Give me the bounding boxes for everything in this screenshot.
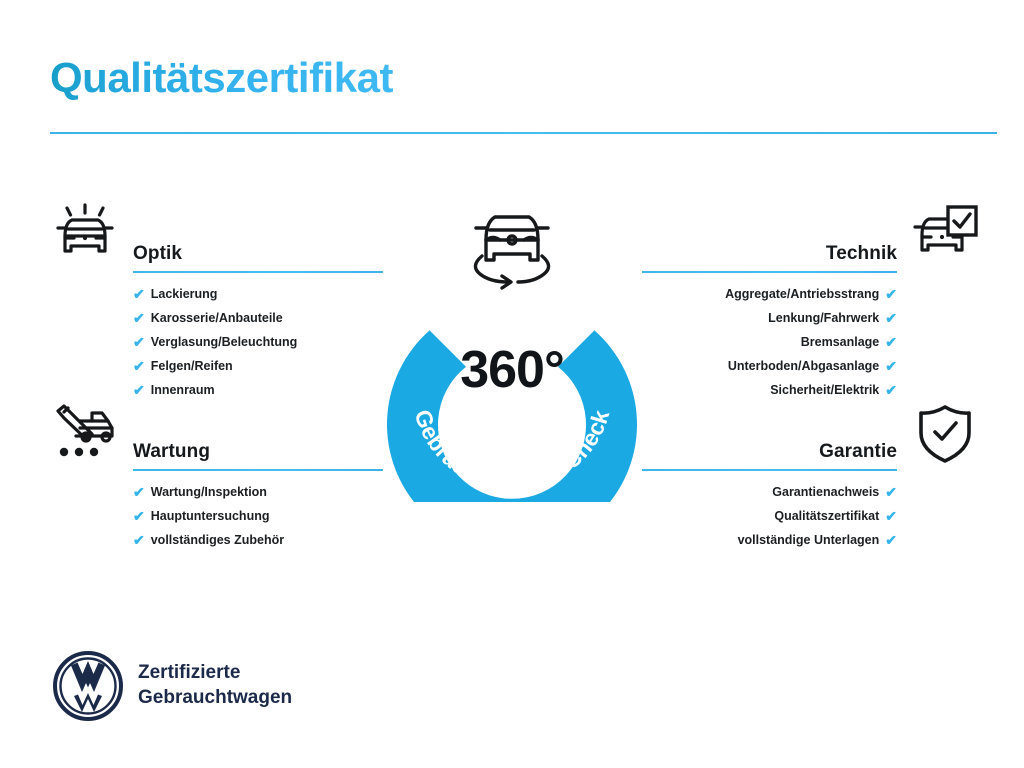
section-garantie-title: Garantie	[642, 398, 897, 461]
list-item-label: Wartung/Inspektion	[151, 486, 267, 499]
list-item-label: vollständiges Zubehör	[151, 534, 284, 547]
badge-360-gebrauchtwagen-check: Gebrauchtwagen-Check	[372, 192, 652, 502]
list-item-label: Bremsanlage	[801, 336, 880, 349]
title-divider	[50, 132, 997, 134]
footer-brand-logo: Zertifizierte Gebrauchtwagen	[52, 650, 292, 722]
list-item: Aggregate/Antriebsstrang✔	[642, 287, 897, 301]
check-icon: ✔	[133, 383, 145, 397]
car-front-checkbox-icon	[905, 200, 985, 272]
list-item: ✔vollständiges Zubehör	[133, 533, 383, 547]
car-service-tool-icon	[45, 398, 125, 470]
list-item: ✔Hauptuntersuchung	[133, 509, 383, 523]
car-front-rotate-icon	[460, 200, 564, 296]
check-icon: ✔	[885, 383, 897, 397]
section-wartung-title: Wartung	[133, 398, 383, 461]
shield-check-icon	[905, 398, 985, 470]
section-technik-body: Technik Aggregate/Antriebsstrang✔ Lenkun…	[642, 200, 897, 407]
vw-logo-icon	[52, 650, 124, 722]
list-item: Garantienachweis✔	[642, 485, 897, 499]
section-optik-title: Optik	[133, 200, 383, 263]
check-icon: ✔	[133, 335, 145, 349]
check-icon: ✔	[885, 485, 897, 499]
list-item: ✔Karosserie/Anbauteile	[133, 311, 383, 325]
check-icon: ✔	[133, 533, 145, 547]
list-item-label: Lackierung	[151, 288, 218, 301]
list-item: ✔Wartung/Inspektion	[133, 485, 383, 499]
list-item: Bremsanlage✔	[642, 335, 897, 349]
list-item: ✔Lackierung	[133, 287, 383, 301]
check-icon: ✔	[885, 335, 897, 349]
list-item: Lenkung/Fahrwerk✔	[642, 311, 897, 325]
section-garantie-divider	[642, 469, 897, 471]
list-item-label: Innenraum	[151, 384, 215, 397]
list-item: ✔Felgen/Reifen	[133, 359, 383, 373]
certificate-page: Qualitätszertifikat	[0, 0, 1024, 768]
list-item-label: Unterboden/Abgasanlage	[728, 360, 879, 373]
check-icon: ✔	[885, 311, 897, 325]
section-wartung-list: ✔Wartung/Inspektion ✔Hauptuntersuchung ✔…	[133, 485, 383, 547]
check-icon: ✔	[133, 485, 145, 499]
car-front-shine-icon	[45, 200, 125, 272]
badge-value: 360°	[372, 340, 652, 400]
list-item: ✔Innenraum	[133, 383, 383, 397]
section-garantie-body: Garantie Garantienachweis✔ Qualitätszert…	[642, 398, 897, 557]
section-technik-list: Aggregate/Antriebsstrang✔ Lenkung/Fahrwe…	[642, 287, 897, 397]
check-icon: ✔	[885, 287, 897, 301]
list-item: vollständige Unterlagen✔	[642, 533, 897, 547]
list-item-label: Aggregate/Antriebsstrang	[725, 288, 879, 301]
page-title: Qualitätszertifikat	[50, 54, 393, 102]
check-icon: ✔	[133, 359, 145, 373]
list-item: Unterboden/Abgasanlage✔	[642, 359, 897, 373]
list-item-label: Felgen/Reifen	[151, 360, 233, 373]
section-technik-title: Technik	[642, 200, 897, 263]
check-icon: ✔	[133, 311, 145, 325]
check-icon: ✔	[133, 287, 145, 301]
list-item: ✔Verglasung/Beleuchtung	[133, 335, 383, 349]
list-item-label: Hauptuntersuchung	[151, 510, 270, 523]
section-technik-divider	[642, 271, 897, 273]
list-item-label: Garantienachweis	[772, 486, 879, 499]
list-item-label: Verglasung/Beleuchtung	[151, 336, 298, 349]
section-wartung-divider	[133, 469, 383, 471]
footer-brand-text: Zertifizierte Gebrauchtwagen	[138, 661, 292, 710]
list-item-label: Sicherheit/Elektrik	[770, 384, 879, 397]
section-wartung-body: Wartung ✔Wartung/Inspektion ✔Hauptunters…	[133, 398, 383, 557]
list-item-label: Lenkung/Fahrwerk	[768, 312, 879, 325]
check-icon: ✔	[133, 509, 145, 523]
section-optik-divider	[133, 271, 383, 273]
check-icon: ✔	[885, 533, 897, 547]
section-optik-list: ✔Lackierung ✔Karosserie/Anbauteile ✔Verg…	[133, 287, 383, 397]
section-garantie-list: Garantienachweis✔ Qualitätszertifikat✔ v…	[642, 485, 897, 547]
check-icon: ✔	[885, 359, 897, 373]
list-item-label: vollständige Unterlagen	[738, 534, 880, 547]
list-item-label: Qualitätszertifikat	[774, 510, 879, 523]
check-icon: ✔	[885, 509, 897, 523]
section-optik-body: Optik ✔Lackierung ✔Karosserie/Anbauteile…	[133, 200, 383, 407]
list-item-label: Karosserie/Anbauteile	[151, 312, 283, 325]
list-item: Qualitätszertifikat✔	[642, 509, 897, 523]
list-item: Sicherheit/Elektrik✔	[642, 383, 897, 397]
